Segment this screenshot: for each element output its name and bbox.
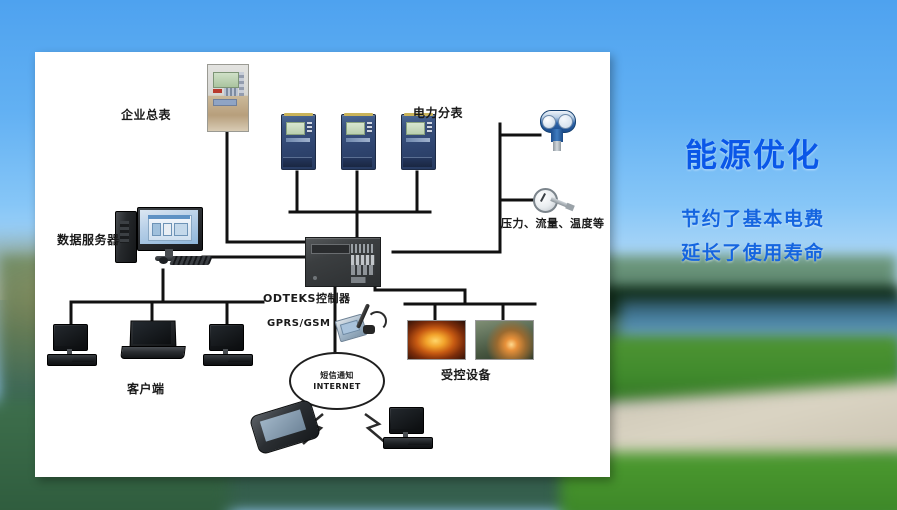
power-submeter-2-icon bbox=[341, 114, 376, 170]
remote-desktop-icon bbox=[383, 407, 431, 447]
controller-icon bbox=[305, 237, 381, 287]
enterprise-meter-icon bbox=[207, 64, 249, 132]
label-power-submeter: 电力分表 bbox=[413, 104, 463, 121]
network-topology-diagram: 企业总表 电力分表 ODTEKS控制器 bbox=[35, 52, 610, 477]
cloud-label-internet: INTERNET bbox=[313, 381, 361, 392]
furnace-photo-2 bbox=[475, 320, 534, 360]
gprs-modem-icon bbox=[337, 305, 389, 341]
pressure-transmitter-icon bbox=[535, 108, 579, 154]
headline-text: 能源优化 bbox=[618, 130, 888, 176]
background-grass-bottom bbox=[560, 452, 897, 510]
label-gprs-gsm: GPRS/GSM bbox=[267, 318, 330, 329]
power-submeter-3-icon bbox=[401, 114, 436, 170]
pressure-gauge-icon bbox=[533, 188, 573, 212]
furnace-photo-1 bbox=[407, 320, 466, 360]
label-client: 客户端 bbox=[127, 380, 165, 397]
client-desktop-2-icon bbox=[203, 324, 251, 364]
slide-canvas: 企业总表 电力分表 ODTEKS控制器 bbox=[0, 0, 897, 510]
label-sensors: 压力、流量、温度等 bbox=[501, 215, 605, 231]
data-server-icon bbox=[115, 207, 211, 269]
label-data-server: 数据服务器 bbox=[57, 231, 120, 248]
power-submeter-1-icon bbox=[281, 114, 316, 170]
label-controlled-equipment: 受控设备 bbox=[441, 366, 491, 383]
marketing-copy: 能源优化 节约了基本电费 延长了使用寿命 bbox=[618, 130, 888, 270]
subline-2: 延长了使用寿命 bbox=[618, 236, 888, 270]
client-laptop-icon bbox=[121, 320, 183, 360]
subline-1: 节约了基本电费 bbox=[618, 202, 888, 236]
diagram-panel: 企业总表 电力分表 ODTEKS控制器 bbox=[35, 52, 610, 477]
label-enterprise-meter: 企业总表 bbox=[121, 106, 171, 123]
label-controller: ODTEKS控制器 bbox=[263, 290, 350, 306]
cloud-label-sms: 短信通知 bbox=[320, 370, 354, 381]
smartphone-icon bbox=[253, 407, 315, 447]
client-desktop-1-icon bbox=[47, 324, 95, 364]
